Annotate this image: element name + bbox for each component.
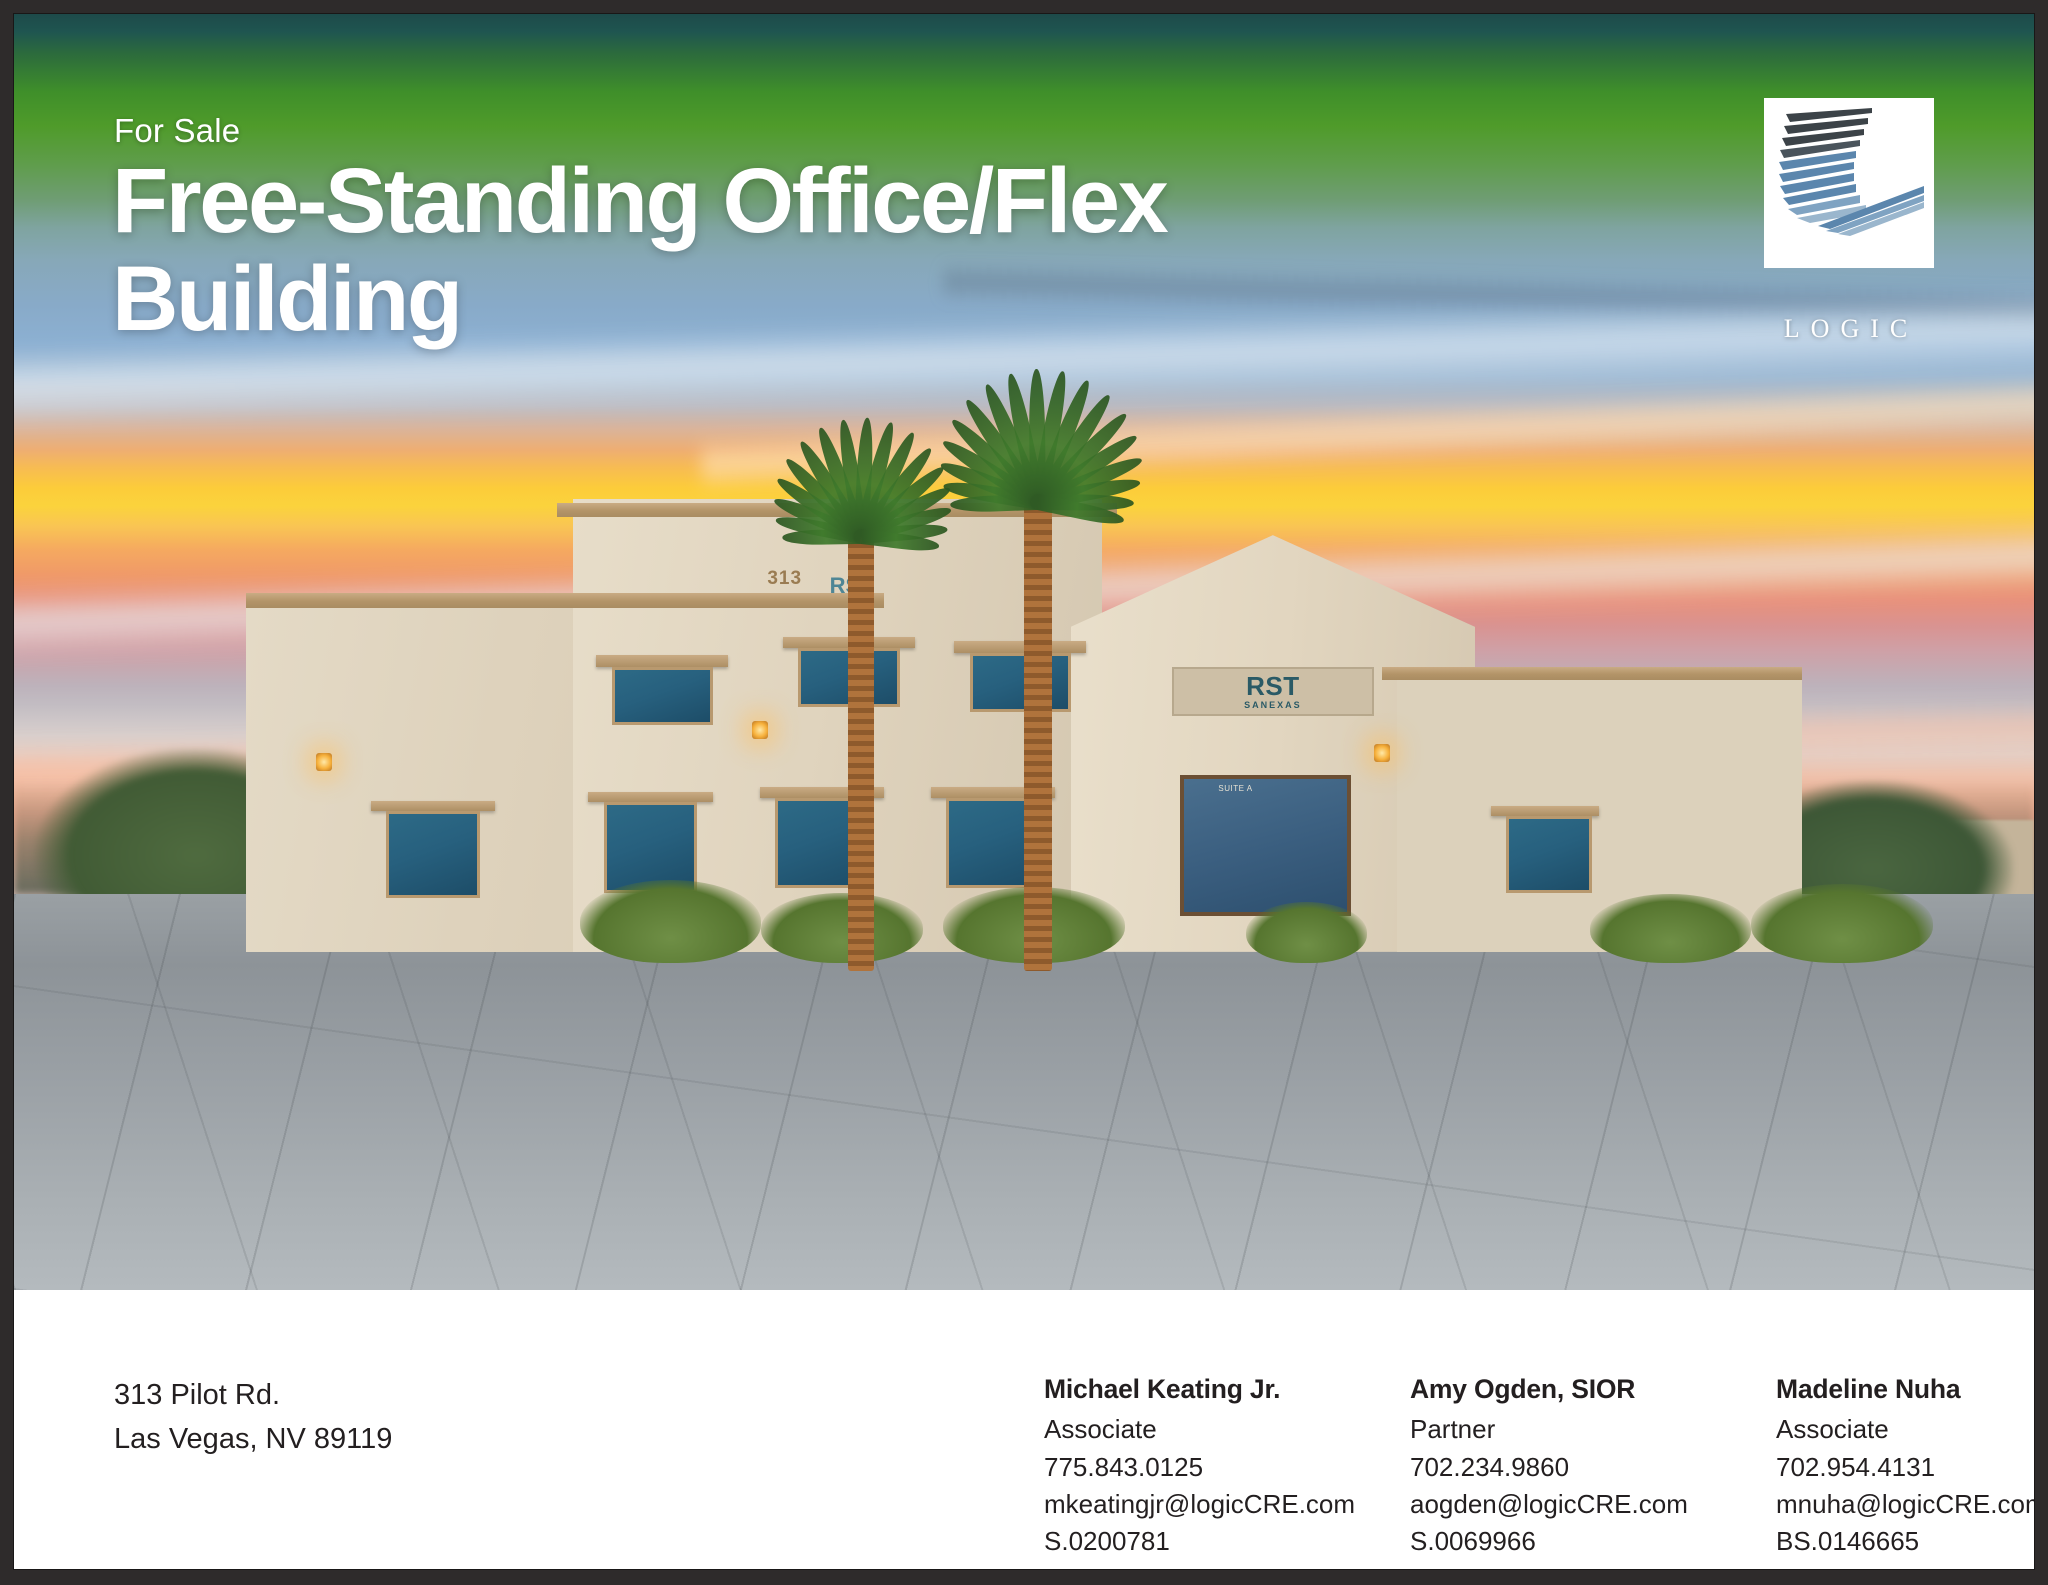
contact-email[interactable]: mnuha@logicCRE.com [1776,1486,2034,1523]
entry-door [1180,775,1351,915]
palm-tree [848,384,874,971]
contact-license: S.0069966 [1410,1523,1710,1560]
contact-title: Associate [1044,1411,1344,1448]
upper-window [970,653,1071,712]
logic-logo-icon [1764,98,1934,268]
contact-email[interactable]: mkeatingjr@logicCRE.com [1044,1486,1344,1523]
address-line-1: 313 Pilot Rd. [114,1373,392,1417]
address-line-2: Las Vegas, NV 89119 [114,1417,392,1461]
property-address: 313 Pilot Rd. Las Vegas, NV 89119 [114,1373,392,1461]
flyer-page: SUITE A RST SANEXAS 313 RST [14,14,2034,1569]
contact-name: Amy Ogden, SIOR [1410,1370,1710,1408]
contact-title: Partner [1410,1411,1710,1448]
landscape-shrub [761,893,923,963]
contact-name: Madeline Nuha [1776,1370,2034,1408]
palm-tree [1024,320,1052,971]
palm-trunk [848,537,874,971]
tenant-sign: RST SANEXAS [1172,667,1374,717]
contact-phone[interactable]: 702.234.9860 [1410,1449,1710,1486]
lower-window [1506,816,1592,893]
contact-list: Michael Keating Jr. Associate 775.843.01… [1044,1370,2034,1561]
logic-wordmark: LOGIC [1756,314,1946,344]
suite-label: SUITE A [1218,784,1252,793]
contact-name: Michael Keating Jr. [1044,1370,1344,1408]
lower-window [604,802,697,893]
parapet-trim-band [1382,667,1802,680]
parapet-trim-band [246,593,884,607]
hero-photo: SUITE A RST SANEXAS 313 RST [14,14,2034,1290]
landscape-shrub [1246,902,1367,963]
wall-lamp-icon [1374,744,1390,762]
contact-phone[interactable]: 702.954.4131 [1776,1449,2034,1486]
window-hood [588,792,712,803]
building-wing-right [1397,671,1801,952]
landscape-shrub [1751,884,1933,963]
window-hood [954,641,1086,653]
contact-license: BS.0146665 [1776,1523,2034,1560]
eyebrow-label: For Sale [114,112,240,150]
flyer-footer: 313 Pilot Rd. Las Vegas, NV 89119 Michae… [14,1290,2034,1569]
palm-trunk [1024,502,1052,971]
page-title: Free-Standing Office/Flex Building [112,152,1412,349]
contact-card: Madeline Nuha Associate 702.954.4131 mnu… [1776,1370,2034,1561]
window-hood [1491,806,1600,816]
contact-card: Amy Ogden, SIOR Partner 702.234.9860 aog… [1410,1370,1710,1561]
window-hood [371,801,495,812]
lower-window [386,811,479,897]
window-hood [596,655,728,667]
landscape-shrub [1590,894,1752,963]
landscape-shrub [580,880,762,963]
wall-lamp-icon [316,753,332,771]
contact-title: Associate [1776,1411,2034,1448]
tenant-name-text: SANEXAS [1244,701,1302,710]
contact-card: Michael Keating Jr. Associate 775.843.01… [1044,1370,1344,1561]
contact-email[interactable]: aogden@logicCRE.com [1410,1486,1710,1523]
street-number-signage: 313 [767,568,802,590]
contact-license: S.0200781 [1044,1523,1344,1560]
contact-phone[interactable]: 775.843.0125 [1044,1449,1344,1486]
wall-lamp-icon [752,721,768,739]
upper-window [612,667,713,726]
document-viewer: SUITE A RST SANEXAS 313 RST [0,0,2048,1585]
tenant-logo-text: RST [1246,673,1300,699]
